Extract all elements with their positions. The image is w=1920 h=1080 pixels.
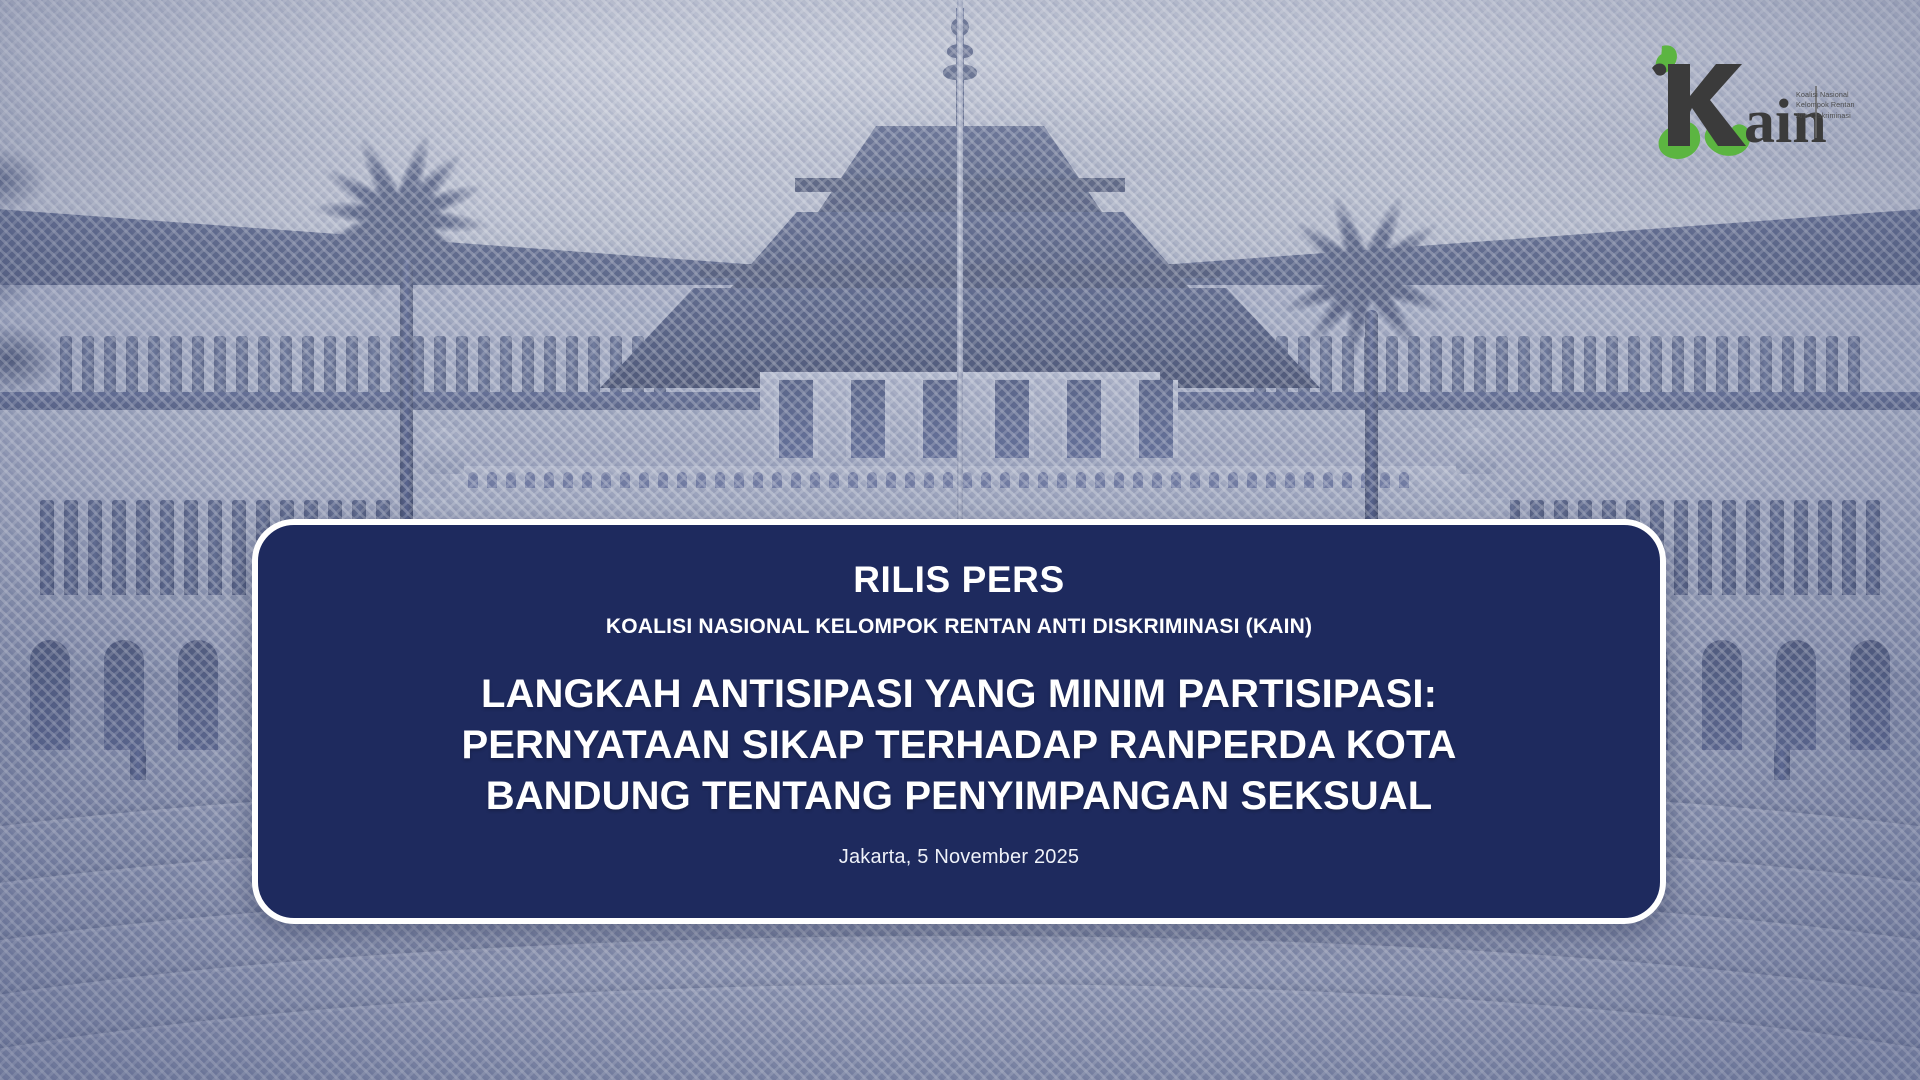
kicker-rilis-pers: RILIS PERS [853,561,1065,600]
logo-tagline-line-2: Kelompok Rentan [1796,100,1880,110]
kain-logo: ain Koalisi Nasional Kelompok Rentan Ant… [1630,34,1886,160]
headline: LANGKAH ANTISIPASI YANG MINIM PARTISIPAS… [461,669,1456,823]
headline-line-2: PERNYATAAN SIKAP TERHADAP RANPERDA KOTA [461,720,1456,771]
logo-tagline: Koalisi Nasional Kelompok Rentan Anti Di… [1796,90,1880,121]
dateline: Jakarta, 5 November 2025 [839,846,1079,869]
headline-line-3: BANDUNG TENTANG PENYIMPANGAN SEKSUAL [461,771,1456,822]
poster-canvas: ain Koalisi Nasional Kelompok Rentan Ant… [0,0,1920,1080]
headline-line-1: LANGKAH ANTISIPASI YANG MINIM PARTISIPAS… [461,669,1456,720]
logo-tagline-line-1: Koalisi Nasional [1796,90,1880,100]
logo-tagline-line-3: Anti Diskriminasi [1796,111,1880,121]
apostrophe-icon [1652,64,1666,76]
press-release-card: RILIS PERS KOALISI NASIONAL KELOMPOK REN… [252,519,1666,924]
organization-name: KOALISI NASIONAL KELOMPOK RENTAN ANTI DI… [606,615,1312,639]
